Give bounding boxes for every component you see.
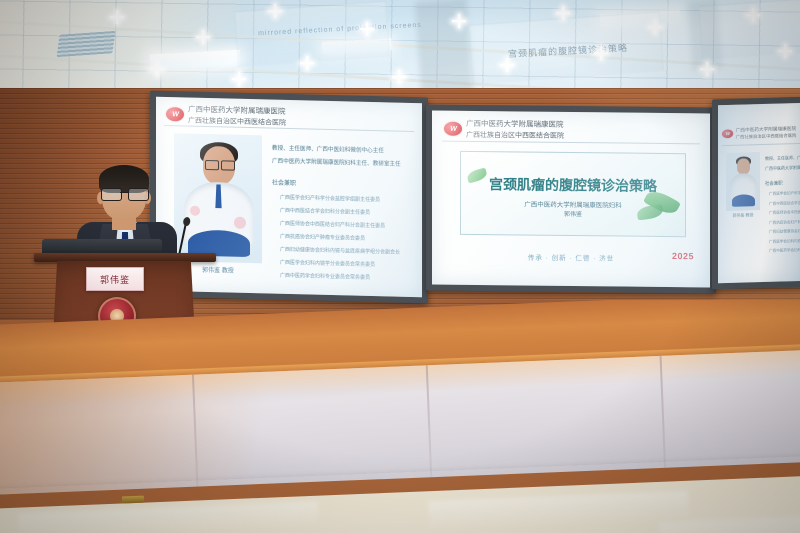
credential-item: 广西医学会妇科内镜学分会常务委员: [769, 238, 800, 244]
credential-item: 广西中西医结合学会妇科分会副主任委员: [280, 207, 418, 217]
glasses-lens-right: [128, 188, 149, 201]
right-projection-screen[interactable]: W 广西中医药大学附属瑞康医院 广西壮族自治区中西医结合医院 郭伟鉴 教授 教授…: [718, 103, 800, 283]
lecture-hall-photo: mirrored reflection of projection screen…: [0, 0, 800, 533]
portrait-glasses: [205, 160, 219, 170]
bio-text-block: 教授、主任医师、广西中医妇科微创中心主任 广西中医药大学附属瑞康医院妇科主任 社…: [765, 155, 800, 254]
podium-top-surface: [34, 253, 216, 262]
speaker-portrait-photo: [726, 152, 760, 211]
header-rule: [722, 143, 800, 146]
center-slide-header: W 广西中医药大学附属瑞康医院 广西壮族自治区中西医结合医院: [444, 118, 564, 141]
portrait-arms: [732, 194, 755, 207]
slide-footer-tagline: 传承 · 创新 · 仁德 · 济世: [432, 251, 710, 264]
credentials-heading: 社会兼职: [765, 180, 800, 187]
credential-item: 广西抗癌协会妇产肿瘤专业委员会委员: [280, 233, 418, 243]
bio-intro-line: 广西中医药大学附属瑞康医院妇科主任、教研室主任: [272, 157, 418, 169]
left-slide-header: W 广西中医药大学附属瑞康医院 广西壮族自治区中西医结合医院: [166, 103, 286, 128]
credential-item: 广西中医药学会妇科专业委员会常务委员: [280, 272, 418, 282]
right-slide-header: W 广西中医药大学附属瑞康医院 广西壮族自治区中西医结合医院: [722, 125, 796, 141]
org-line-2: 广西壮族自治区中西医结合医院: [736, 132, 797, 140]
credential-item: 广西医师协会中西医结合妇产科分会副主任委员: [280, 220, 418, 230]
ceiling-shadow: [415, 0, 474, 96]
credential-item: 广西妇幼健康协会妇科内镜分会副会长: [769, 229, 800, 235]
portrait-badge: [234, 217, 246, 229]
glasses-lens-left: [101, 188, 122, 201]
floor-reflection: [428, 491, 689, 531]
credential-item: 广西中医药学会妇科专业委员会委员: [769, 248, 800, 254]
ceiling-panel-grid: [0, 0, 800, 96]
air-vent-icon: [57, 31, 116, 57]
ceiling-shadow: [688, 0, 723, 71]
glasses-icon: [101, 188, 147, 199]
front-desk-and-floor: [0, 300, 800, 533]
laptop-icon: [42, 239, 162, 254]
title-frame: 宫颈肌瘤的腹腔镜诊治策略 广西中医药大学附属瑞康医院妇科 郭伟鉴: [460, 151, 686, 237]
org-line-1: 广西中医药大学附属瑞康医院: [466, 118, 564, 130]
credentials-heading: 社会兼职: [272, 178, 418, 191]
portrait-badge: [190, 206, 200, 216]
bio-intro-line: 教授、主任医师、广西中医妇科微创中心主任: [765, 155, 800, 162]
header-rule: [164, 125, 414, 132]
logo-oval-icon: W: [444, 122, 462, 136]
logo-oval-icon: W: [722, 129, 733, 138]
logo-glyph: W: [726, 132, 729, 136]
bio-intro-line: 教授、主任医师、广西中医妇科微创中心主任: [272, 144, 418, 156]
header-rule: [442, 141, 700, 145]
logo-oval-icon: W: [166, 107, 184, 121]
slide-year: 2025: [672, 251, 694, 261]
logo-glyph: W: [450, 125, 456, 132]
credential-item: 广西医学会妇科内镜学分会委员会常务委员: [280, 259, 418, 269]
floor-reflection: [18, 502, 319, 533]
name-card: 郭伟鉴: [86, 267, 144, 291]
credential-item: 广西医学会妇产科学分会盆腔学组副主任委员: [769, 191, 800, 197]
center-projection-screen[interactable]: W 广西中医药大学附属瑞康医院 广西壮族自治区中西医结合医院 宫颈肌瘤的腹腔镜诊…: [432, 111, 710, 288]
ceiling: mirrored reflection of projection screen…: [0, 0, 800, 96]
bio-intro-line: 广西中医药大学附属瑞康医院妇科主任: [765, 165, 800, 172]
projection-screen-rail: W 广西中医药大学附属瑞康医院 广西壮族自治区中西医结合医院: [150, 92, 800, 307]
credential-item: 广西医师协会中西医结合妇产科分会委员: [769, 210, 800, 216]
portrait-head: [737, 158, 750, 174]
portrait-caption: 郭伟鉴 教授: [724, 212, 762, 219]
slide-title: 宫颈肌瘤的腹腔镜诊治策略: [461, 174, 685, 196]
slide-subtitle-name: 郭伟鉴: [461, 210, 685, 221]
desk-plaque: [122, 496, 144, 504]
glasses-bridge: [120, 192, 128, 193]
credential-item: 广西抗癌协会妇产肿瘤专业委员会委员: [769, 219, 800, 225]
org-line-2: 广西壮族自治区中西医结合医院: [466, 130, 564, 141]
logo-glyph: W: [172, 111, 178, 118]
bio-text-block: 教授、主任医师、广西中医妇科微创中心主任 广西中医药大学附属瑞康医院妇科主任、教…: [272, 144, 418, 283]
credential-item: 广西妇幼健康协会妇科内镜与盆底疾病学组分会副会长: [280, 246, 418, 256]
credential-item: 广西中西医结合学会妇科分会副主任委员: [769, 200, 800, 206]
name-card-text: 郭伟鉴: [100, 273, 130, 286]
speaker-portrait-photo: [174, 133, 262, 263]
portrait-glasses: [221, 160, 235, 170]
credential-item: 广西医学会妇产科学分会盆腔学组副主任委员: [280, 194, 418, 204]
